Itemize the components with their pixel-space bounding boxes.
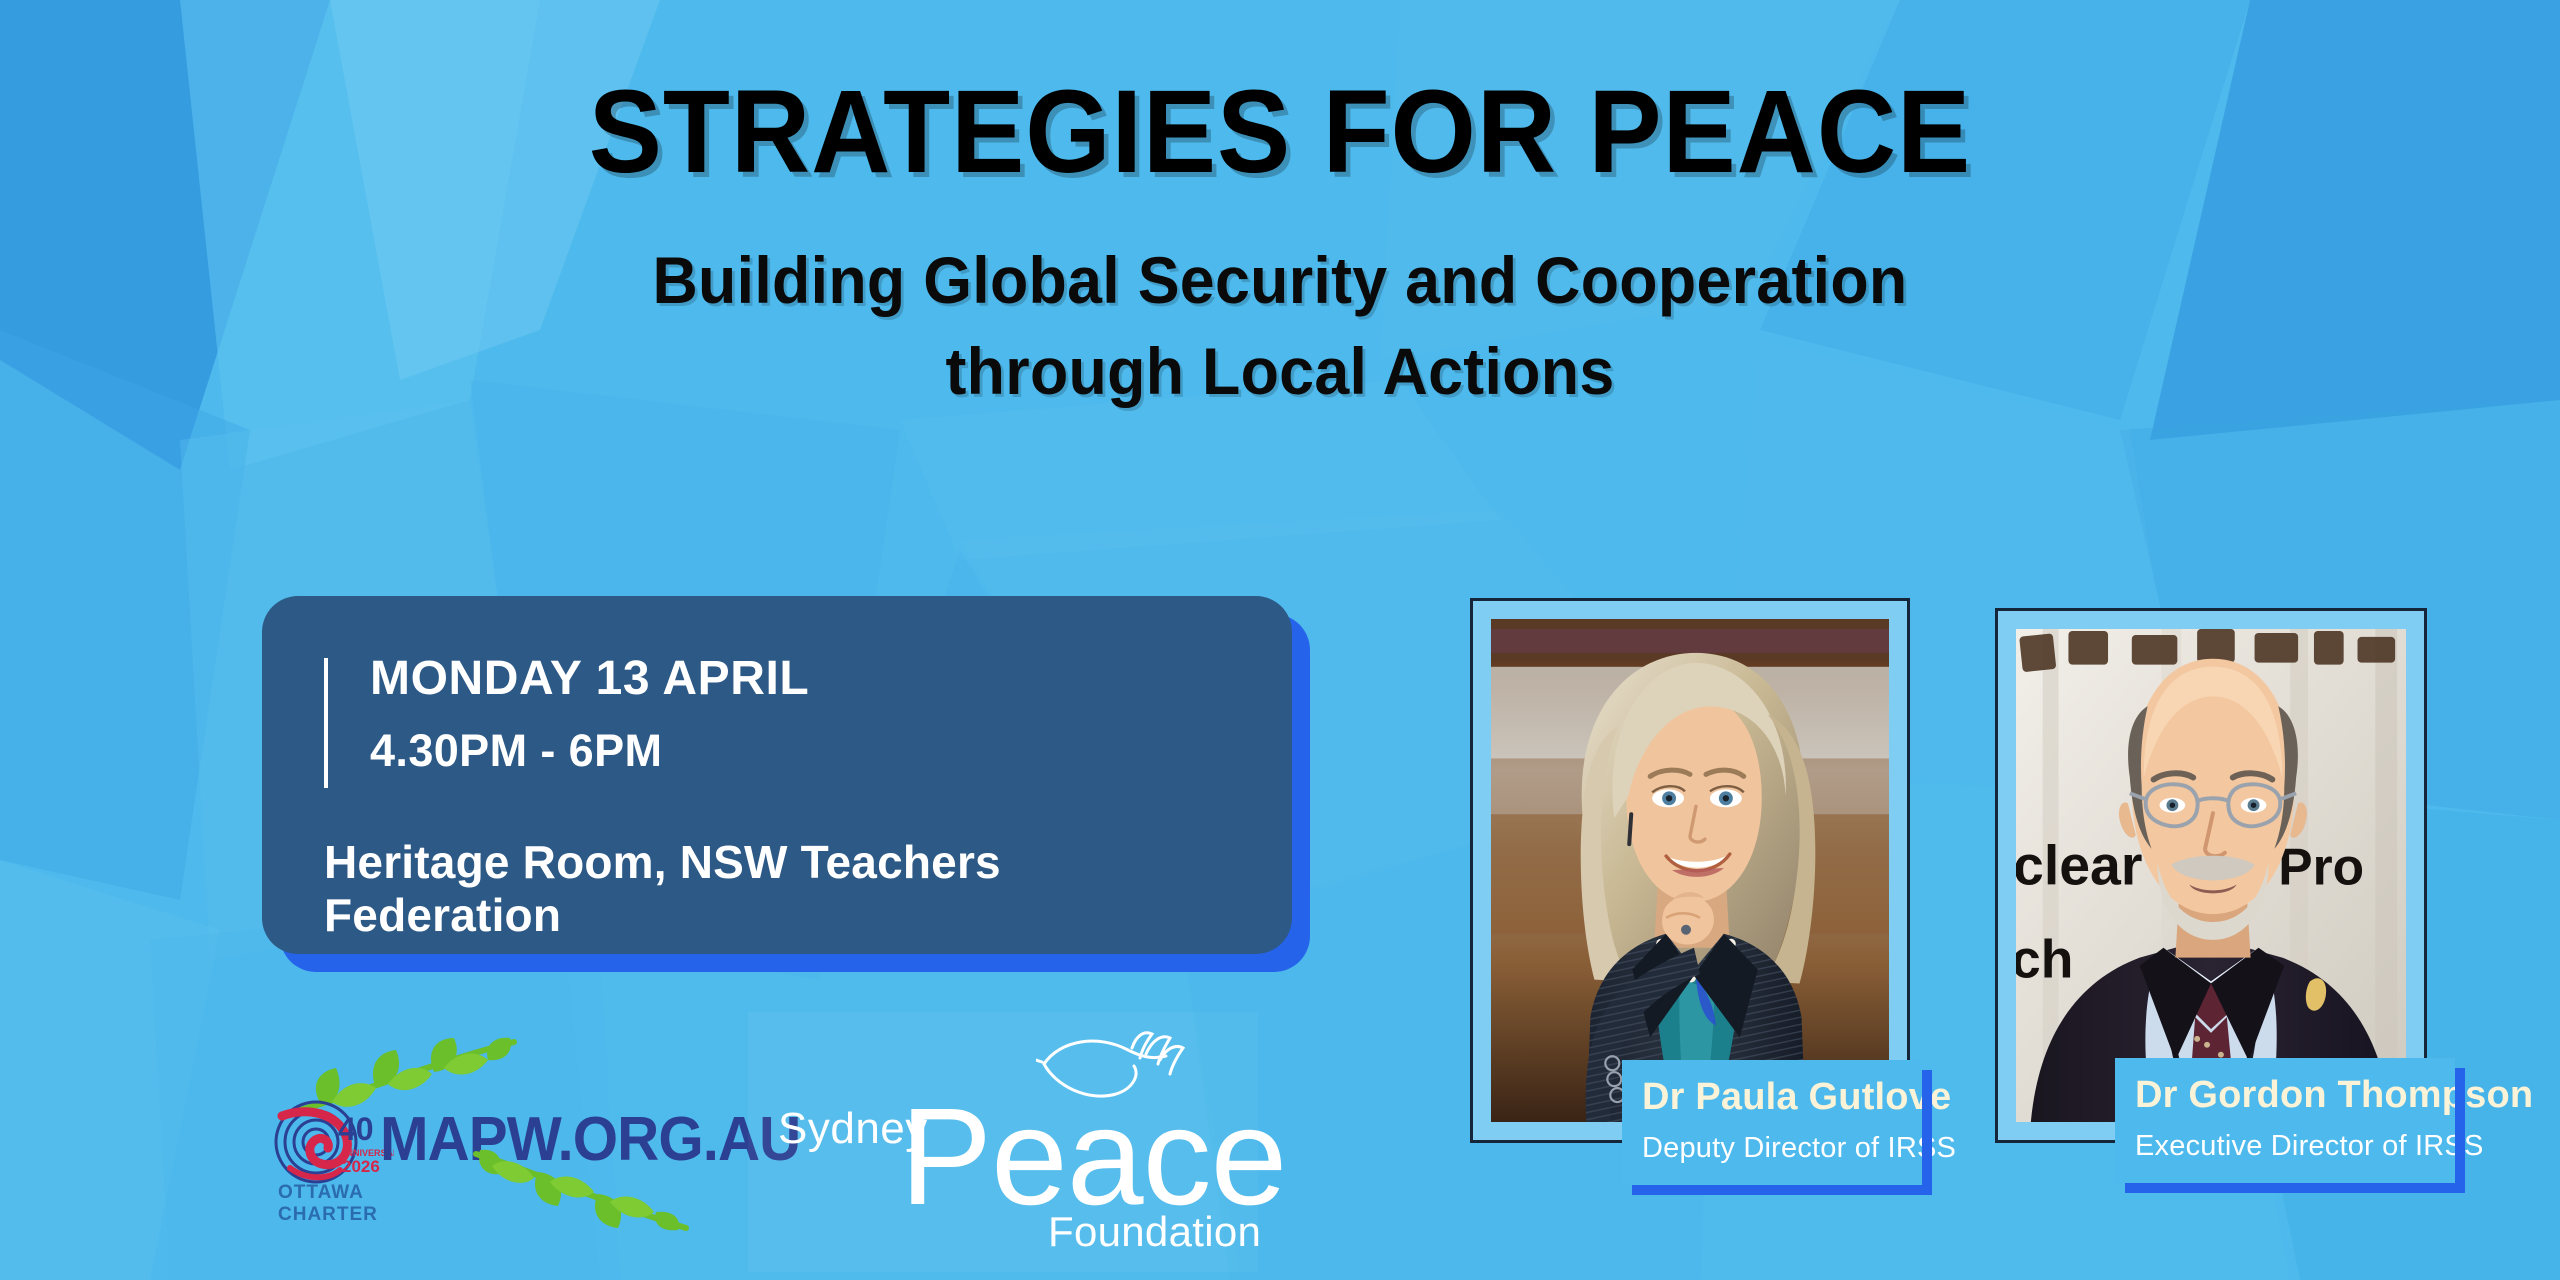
speaker-role: Executive Director of IRSS bbox=[2135, 1130, 2429, 1163]
speaker-name: Dr Gordon Thompson bbox=[2135, 1074, 2429, 1118]
speaker-photo-paula-gutlove bbox=[1491, 619, 1889, 1122]
olive-branch-icon-bottom bbox=[472, 1144, 692, 1234]
mapw-spiral-emblem-icon: 40 ANNIVERSARY 2026 OTTAWA CHARTER bbox=[272, 1098, 394, 1226]
mapw-badge-number: 40 bbox=[338, 1111, 374, 1147]
page-subtitle: Building Global Security and Cooperation… bbox=[64, 235, 2496, 417]
speaker-role: Deputy Director of IRSS bbox=[1642, 1132, 1896, 1165]
headline-block: STRATEGIES FOR PEACE Building Global Sec… bbox=[0, 70, 2560, 417]
speaker-photo-gordon-thompson: clear Pro ch bbox=[2016, 629, 2406, 1122]
event-time: 4.30PM - 6PM bbox=[370, 726, 1232, 776]
svg-text:clear: clear bbox=[2016, 834, 2142, 896]
mapw-badge-year: 2026 bbox=[342, 1157, 380, 1176]
speaker-card-gordon-thompson: clear Pro ch bbox=[1995, 608, 2435, 1158]
event-details-card: MONDAY 13 APRIL 4.30PM - 6PM Heritage Ro… bbox=[262, 596, 1302, 966]
date-time-group: MONDAY 13 APRIL 4.30PM - 6PM bbox=[324, 652, 1232, 776]
event-date: MONDAY 13 APRIL bbox=[370, 652, 1232, 706]
event-poster: STRATEGIES FOR PEACE Building Global Sec… bbox=[0, 0, 2560, 1280]
ottawa-charter-line-1: OTTAWA bbox=[278, 1182, 364, 1203]
card-body: MONDAY 13 APRIL 4.30PM - 6PM Heritage Ro… bbox=[262, 596, 1292, 954]
speaker-card-paula-gutlove: Dr Paula Gutlove Deputy Director of IRSS bbox=[1470, 598, 1920, 1158]
sydney-peace-foundation-logo[interactable]: Sydney Peace Foundation bbox=[748, 1012, 1258, 1272]
subtitle-line-1: Building Global Security and Cooperation bbox=[64, 235, 2496, 326]
svg-text:ch: ch bbox=[2016, 930, 2073, 989]
ottawa-charter-line-2: CHARTER bbox=[278, 1204, 378, 1225]
vertical-accent-bar bbox=[324, 658, 328, 788]
svg-text:Pro: Pro bbox=[2278, 837, 2364, 895]
spf-peace-text: Peace bbox=[900, 1088, 1286, 1226]
event-venue: Heritage Room, NSW Teachers Federation bbox=[324, 836, 1232, 942]
portrait-illustration bbox=[1491, 619, 1889, 1122]
speaker-name: Dr Paula Gutlove bbox=[1642, 1076, 1896, 1120]
speaker-nameplate-gordon-thompson: Dr Gordon Thompson Executive Director of… bbox=[2115, 1058, 2455, 1183]
portrait-illustration: clear Pro ch bbox=[2016, 629, 2406, 1122]
subtitle-line-2: through Local Actions bbox=[64, 326, 2496, 417]
speaker-nameplate-paula-gutlove: Dr Paula Gutlove Deputy Director of IRSS bbox=[1622, 1060, 1922, 1185]
spf-foundation-text: Foundation bbox=[1048, 1208, 1261, 1256]
page-title: STRATEGIES FOR PEACE bbox=[90, 70, 2471, 195]
mapw-logo[interactable]: 40 ANNIVERSARY 2026 OTTAWA CHARTER MAPW.… bbox=[272, 1036, 692, 1236]
